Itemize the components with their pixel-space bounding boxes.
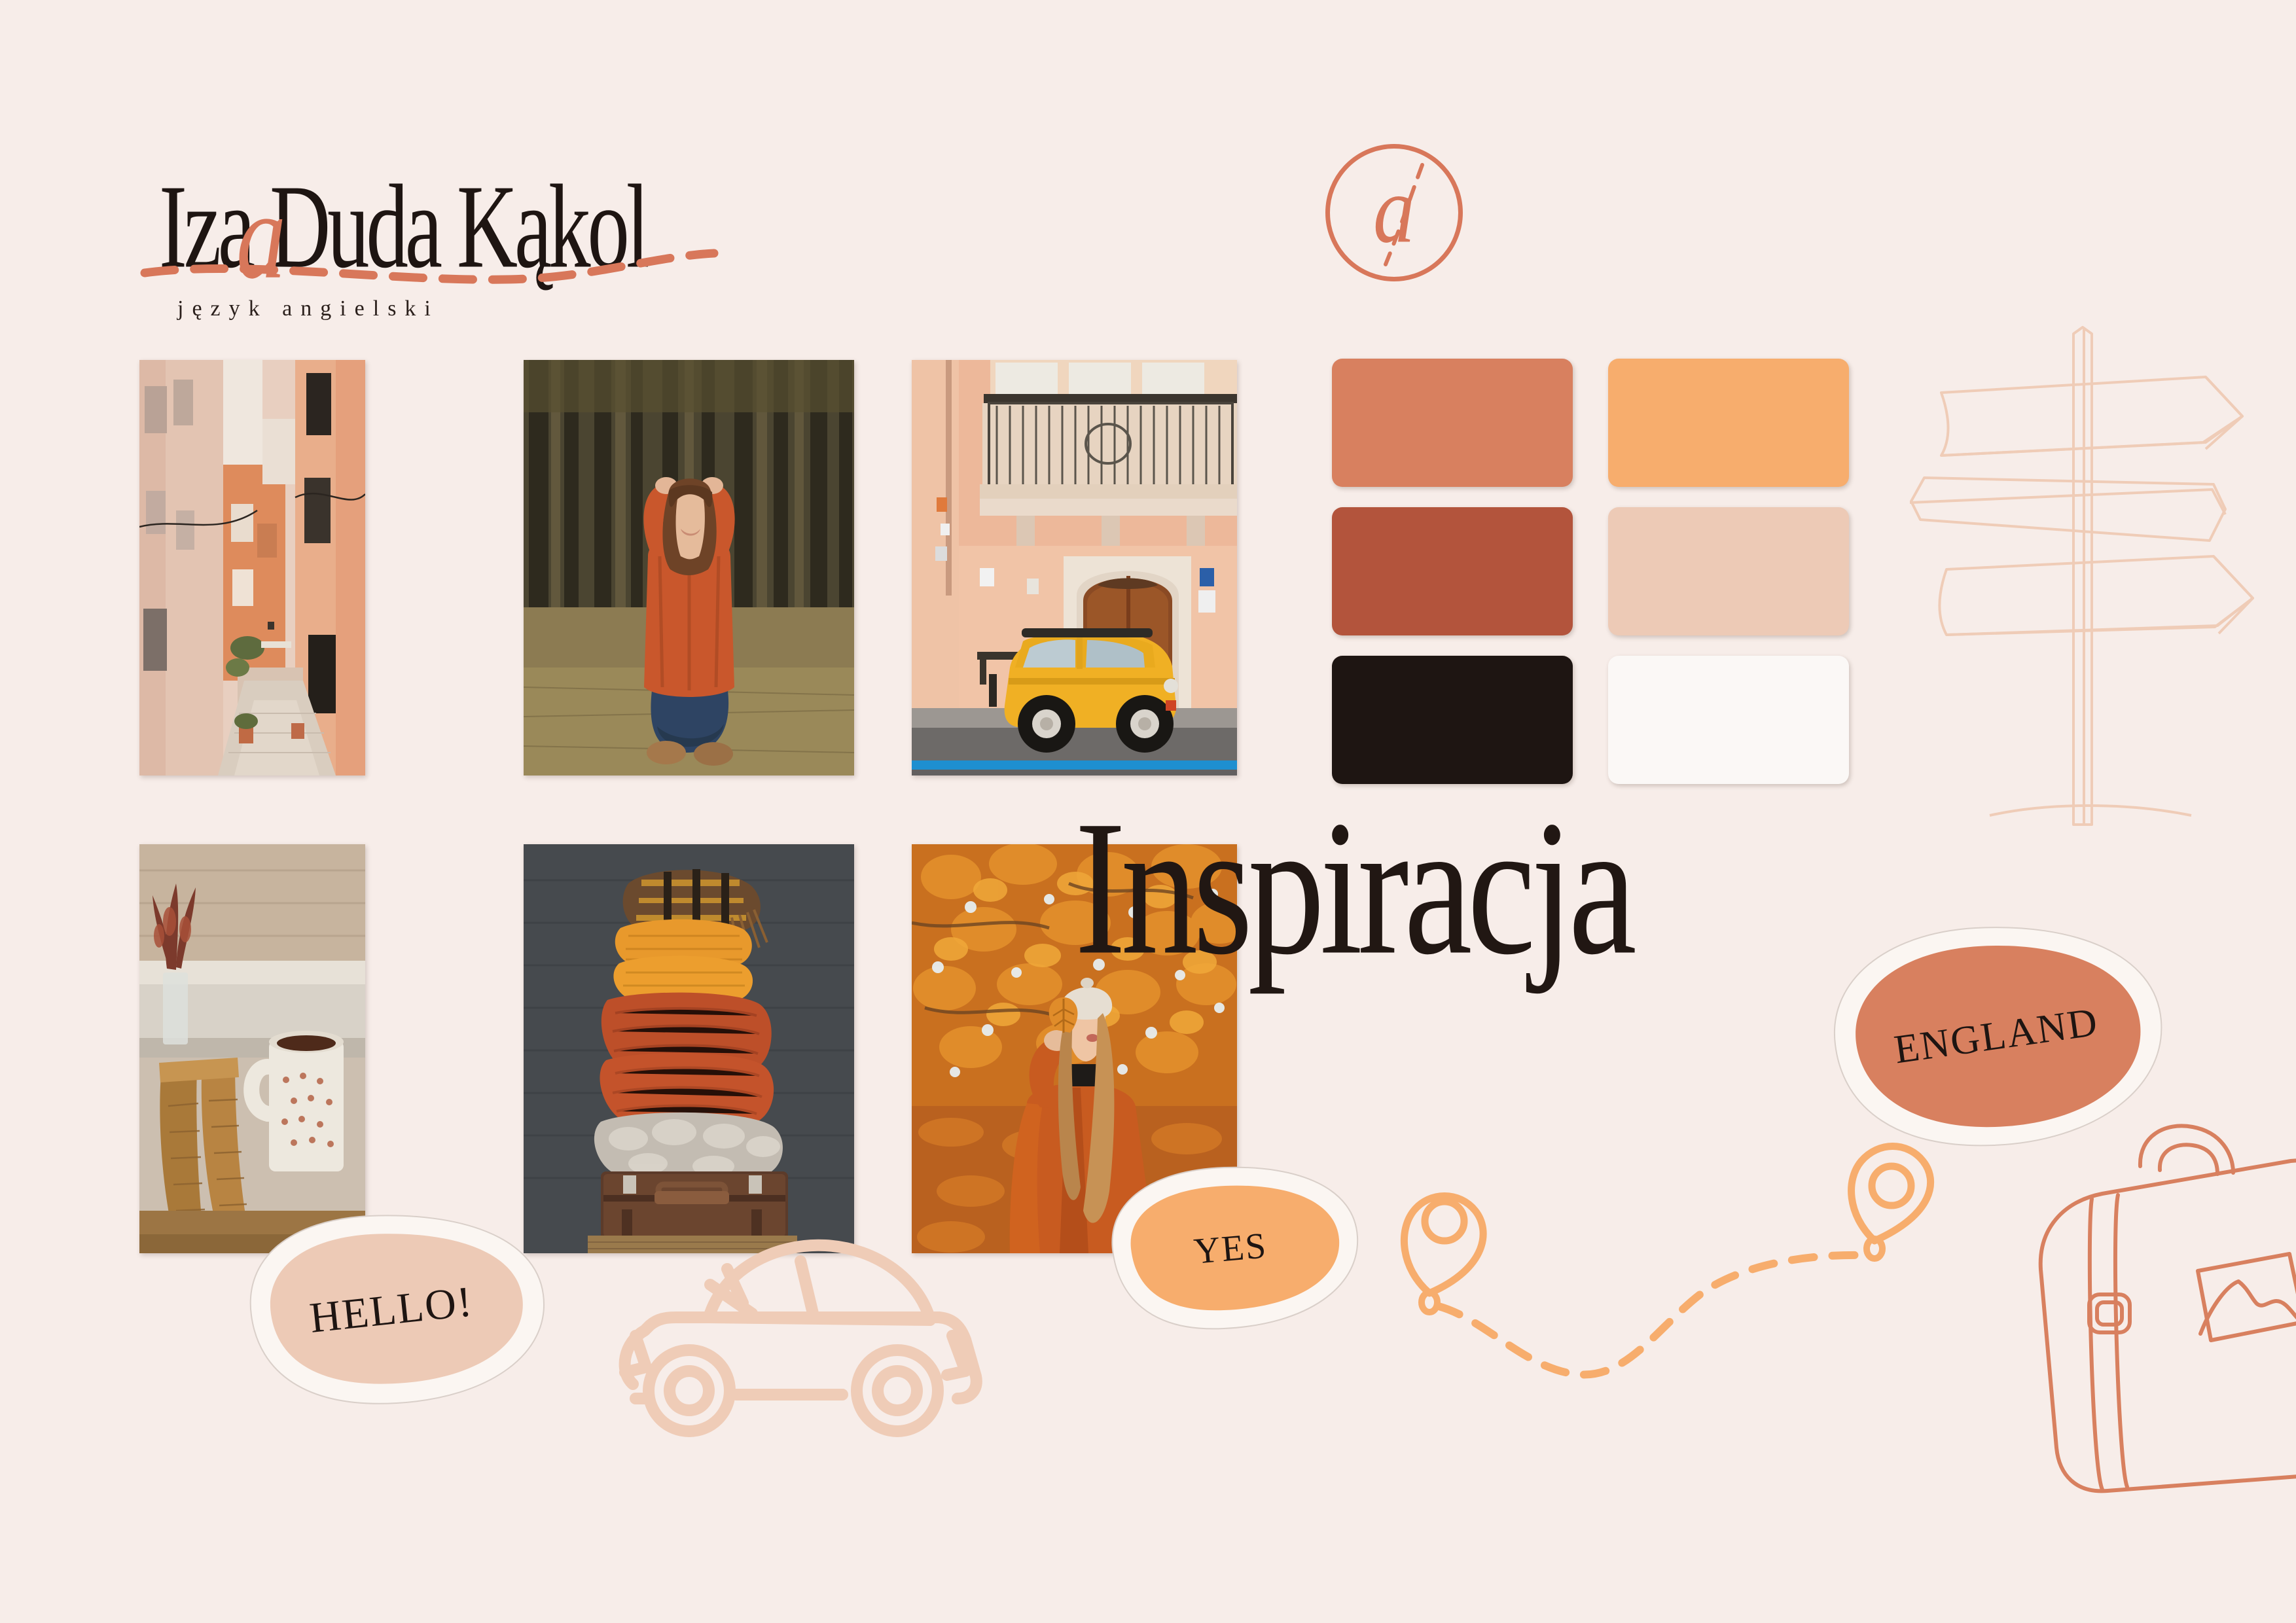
swatch-rust-red[interactable] [1332, 507, 1573, 635]
swatch-off-white[interactable] [1608, 656, 1849, 784]
photo-card-blankets-suitcase[interactable] [524, 844, 854, 1253]
stacked-blankets-suitcase [524, 844, 854, 1253]
england-sticker[interactable]: ENGLAND [1826, 921, 2166, 1150]
woman-orange-sweater-forest [524, 360, 854, 776]
map-pin-left-icon [1404, 1196, 1483, 1294]
photo-card-socks-mug[interactable] [139, 844, 365, 1253]
car-illustration [612, 1221, 1005, 1456]
signpost-illustration [1918, 327, 2296, 825]
color-palette [1332, 359, 1849, 784]
yes-sticker-shape [1100, 1164, 1361, 1334]
car-icon [612, 1221, 1005, 1456]
dashed-route-path-icon [1361, 1178, 1924, 1414]
photo-card-yellow-fiat[interactable] [912, 360, 1237, 776]
suitcase-icon [2029, 1126, 2296, 1492]
photo-card-narrow-alley[interactable] [139, 360, 365, 776]
wool-socks-and-mug [139, 844, 365, 1253]
england-sticker-shape [1826, 921, 2166, 1150]
hello-sticker[interactable]: HELLO! [228, 1212, 555, 1408]
route-illustration [1361, 1178, 1924, 1414]
page-title: Inspiracja [1075, 792, 1632, 985]
swatch-pale-peach[interactable] [1608, 507, 1849, 635]
brand-tagline: język angielski [177, 296, 439, 321]
swatch-terracotta[interactable] [1332, 359, 1573, 487]
swatch-near-black[interactable] [1332, 656, 1573, 784]
yes-sticker[interactable]: YES [1100, 1164, 1361, 1334]
map-pin-right-icon [1852, 1147, 1931, 1241]
narrow-alley-peach-buildings [139, 360, 365, 776]
brand-logo: Iza Duda Kąkol a język angielski [159, 167, 814, 304]
brand-monogram-mark: a [1325, 144, 1463, 281]
dashed-underline-icon [145, 252, 714, 291]
suitcase-illustration [2029, 1126, 2296, 1492]
signpost-icon [1918, 327, 2296, 825]
swatch-light-orange[interactable] [1608, 359, 1849, 487]
photo-card-forest-woman[interactable] [524, 360, 854, 776]
moodboard-canvas: Iza Duda Kąkol a język angielski a [0, 0, 2296, 1623]
hello-sticker-shape [228, 1212, 555, 1408]
yellow-fiat-peach-facade [912, 360, 1237, 776]
monogram-letter: a [1373, 161, 1415, 257]
